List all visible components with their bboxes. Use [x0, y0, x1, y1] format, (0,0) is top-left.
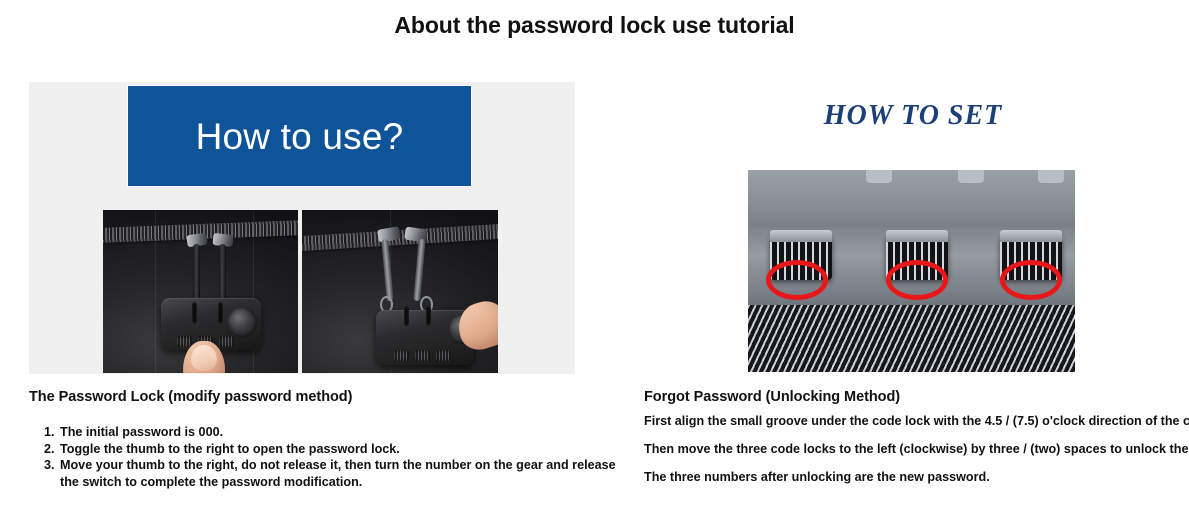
mesh-fabric — [748, 305, 1075, 372]
code-dial-gear-cap — [770, 230, 832, 242]
how-to-use-banner-label: How to use? — [196, 118, 404, 155]
lock-dial — [415, 350, 430, 361]
backpack-lock-zipper-pulls-photo — [302, 210, 498, 373]
how-to-use-banner: How to use? — [127, 85, 472, 187]
highlight-ellipse-icon — [1000, 260, 1062, 300]
lock-shackle-slot — [404, 306, 409, 326]
right-caption-heading: Forgot Password (Unlocking Method) — [644, 389, 900, 405]
housing-notch — [1038, 170, 1064, 183]
code-lock-dials-closeup-photo — [748, 170, 1075, 372]
lock-shackle-slot — [426, 306, 431, 326]
left-caption-heading: The Password Lock (modify password metho… — [29, 389, 352, 405]
lock-dial — [219, 336, 234, 347]
page-title: About the password lock use tutorial — [0, 12, 1189, 39]
lock-shackle-slot — [192, 302, 197, 324]
list-item: The initial password is 000. — [58, 424, 618, 441]
zipper-pull-stem — [193, 244, 200, 306]
unlocking-method-paragraphs: First align the small groove under the c… — [644, 414, 1189, 498]
list-item: Toggle the thumb to the right to open th… — [58, 441, 618, 458]
housing-notch — [958, 170, 984, 183]
housing-notch — [866, 170, 892, 183]
paragraph: Then move the three code locks to the le… — [644, 442, 1189, 457]
how-to-set-heading: HOW TO SET — [748, 100, 1078, 132]
paragraph: The three numbers after unlocking are th… — [644, 470, 1189, 485]
highlight-ellipse-icon — [766, 260, 828, 300]
highlight-ellipse-icon — [886, 260, 948, 300]
paragraph: First align the small groove under the c… — [644, 414, 1189, 429]
lock-thumb-wheel — [227, 307, 257, 337]
code-dial-gear-cap — [886, 230, 948, 242]
bag-seam — [155, 210, 156, 373]
lock-dial — [436, 350, 451, 361]
password-modify-steps: The initial password is 000. Toggle the … — [33, 424, 618, 490]
lock-dial — [394, 350, 409, 361]
lock-shackle-slot — [218, 302, 223, 324]
list-item: Move your thumb to the right, do not rel… — [58, 457, 618, 490]
zipper-pull-stem — [219, 244, 226, 306]
lock-housing-top — [748, 170, 1075, 231]
fingernail — [191, 345, 217, 371]
code-dial-gear-cap — [1000, 230, 1062, 242]
lock-dial — [177, 336, 192, 347]
backpack-lock-thumb-press-photo — [103, 210, 298, 373]
